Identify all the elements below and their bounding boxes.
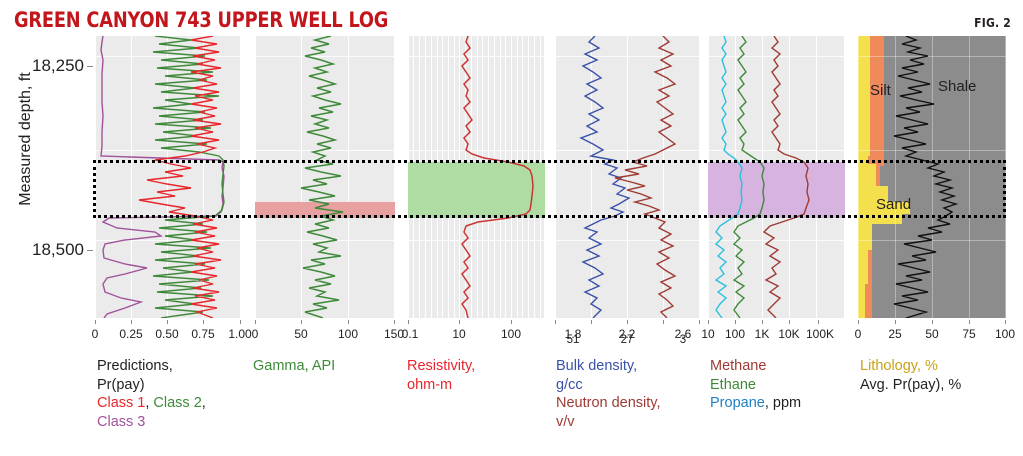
track-resistivity-xticks: 0.1 10 100 bbox=[408, 320, 545, 336]
track-lithology[interactable] bbox=[858, 36, 1006, 318]
legend-line-neutron-density: Neutron density, bbox=[556, 394, 661, 413]
legend-line-lithology: Lithology, % bbox=[860, 357, 961, 376]
legend-line-bulk-density: Bulk density, bbox=[556, 357, 661, 376]
legend-line-neutron-density-unit: v/v bbox=[556, 413, 661, 432]
density-curves bbox=[555, 36, 700, 318]
track-density-xticks-neutron: 51 27 3 bbox=[555, 334, 700, 350]
legend-class-3: Class 3 bbox=[97, 413, 206, 432]
legend-class-1: Class 1 bbox=[97, 395, 145, 411]
legend-predictions: Predictions, Pr(pay) Class 1, Class 2, C… bbox=[97, 357, 206, 431]
page-title: GREEN CANYON 743 UPPER WELL LOG bbox=[14, 8, 388, 32]
avg-prpay-curve bbox=[858, 36, 1006, 318]
track-resistivity[interactable] bbox=[408, 36, 545, 318]
predictions-curves bbox=[95, 36, 241, 318]
y-axis-tick-18250: 18,250 bbox=[8, 56, 84, 76]
track-predictions[interactable] bbox=[95, 36, 241, 318]
lithology-label-sand: Sand bbox=[876, 196, 911, 213]
track-lithology-xticks: 0 25 50 75 100 bbox=[858, 320, 1006, 336]
legend-line-bulk-density-unit: g/cc bbox=[556, 376, 661, 395]
track-predictions-xticks: 0 0.25 0.50 0.75 1.00 bbox=[95, 320, 241, 336]
legend-line-predictions: Predictions, bbox=[97, 357, 206, 376]
well-log-figure: GREEN CANYON 743 UPPER WELL LOG FIG. 2 M… bbox=[0, 0, 1023, 456]
legend-gamma: Gamma, API bbox=[253, 357, 335, 376]
legend-density: Bulk density, g/cc Neutron density, v/v bbox=[556, 357, 661, 431]
legend-line-ethane: Ethane bbox=[710, 376, 801, 395]
legend-line-prpay: Pr(pay) bbox=[97, 376, 206, 395]
track-gas[interactable] bbox=[708, 36, 845, 318]
legend-resistivity: Resistivity, ohm-m bbox=[407, 357, 475, 394]
legend-line-propane: Propane, ppm bbox=[710, 394, 801, 413]
gas-curves bbox=[708, 36, 845, 318]
legend-line-resistivity: Resistivity, bbox=[407, 357, 475, 376]
y-axis-tick-18500: 18,500 bbox=[8, 240, 84, 260]
lithology-label-silt: Silt bbox=[870, 82, 891, 99]
legend-line-methane: Methane bbox=[710, 357, 801, 376]
lithology-label-shale: Shale bbox=[938, 78, 976, 95]
legend-gas: Methane Ethane Propane, ppm bbox=[710, 357, 801, 413]
legend-line-resistivity-unit: ohm-m bbox=[407, 376, 475, 395]
resistivity-curve bbox=[408, 36, 545, 318]
legend-line-gamma: Gamma, API bbox=[253, 357, 335, 376]
track-gamma[interactable] bbox=[255, 36, 395, 318]
legend-line-avg-prpay: Avg. Pr(pay), % bbox=[860, 376, 961, 395]
track-gas-xticks: 10 100 1K 10K 100K bbox=[708, 320, 845, 336]
legend-lithology: Lithology, % Avg. Pr(pay), % bbox=[860, 357, 961, 394]
legend-line-classes: Class 1, Class 2, bbox=[97, 394, 206, 413]
track-density[interactable] bbox=[555, 36, 700, 318]
gamma-curve bbox=[255, 36, 395, 318]
legend-class-2: Class 2 bbox=[153, 395, 201, 411]
figure-number-label: FIG. 2 bbox=[974, 16, 1011, 30]
track-gamma-xticks: 0 50 100 150 bbox=[255, 320, 395, 336]
